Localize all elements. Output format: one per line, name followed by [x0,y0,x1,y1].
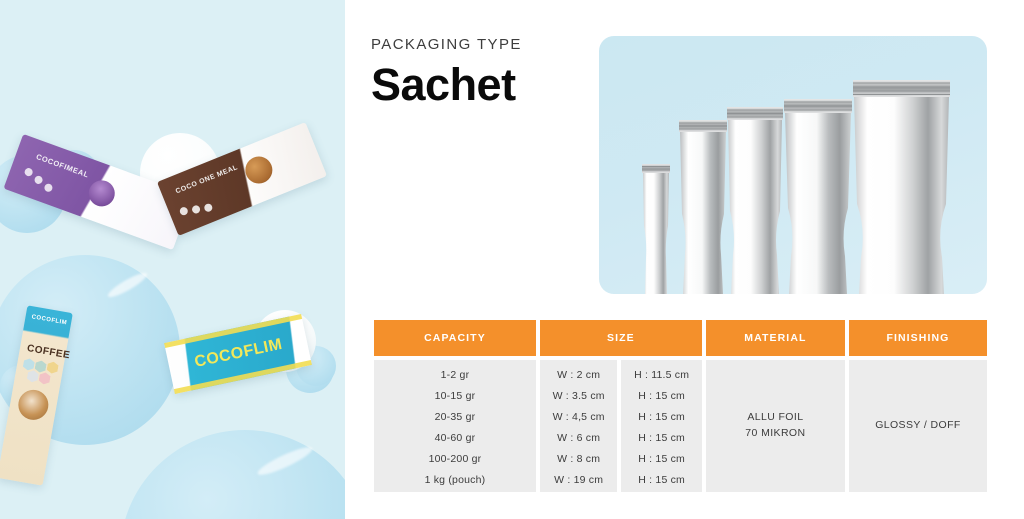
table-column-capacity: 1-2 gr 10-15 gr 20-35 gr 40-60 gr 100-20… [374,360,536,492]
table-column-width: W : 2 cm W : 3.5 cm W : 4,5 cm W : 6 cm … [540,360,617,492]
table-cell-finishing: GLOSSY / DOFF [875,418,961,434]
page-kicker: PACKAGING TYPE [371,36,522,53]
table-cell-capacity: 20-35 gr [374,406,536,427]
table-header-size: SIZE [540,320,702,356]
collage-product-label: COFFEE [26,343,71,361]
table-column-height: H : 11.5 cm H : 15 cm H : 15 cm H : 15 c… [621,360,701,492]
table-cell-height: H : 15 cm [621,385,701,406]
sachet-hero-panel [599,36,987,294]
table-cell-height: H : 15 cm [621,448,701,469]
table-cell-width: W : 3.5 cm [540,385,617,406]
table-cell-capacity: 40-60 gr [374,427,536,448]
collage-product-label: COCOFLIM [193,336,284,372]
table-cell-width: W : 4,5 cm [540,406,617,427]
sachet-size-4 [784,99,852,294]
sachet-size-5 [853,80,950,294]
packaging-spec-page: COCOFIMEAL COCO ONE MEAL COCOFLIM COFFEE [0,0,1024,519]
table-header-material: MATERIAL [706,320,845,356]
sachet-size-2 [679,120,727,294]
product-collage-panel: COCOFIMEAL COCO ONE MEAL COCOFLIM COFFEE [0,0,345,519]
collage-product-label: COCOFIMEAL [35,152,90,179]
table-column-finishing: GLOSSY / DOFF [849,360,987,492]
table-header-finishing: FINISHING [849,320,987,356]
material-line-1: ALLU FOIL [745,410,805,426]
table-cell-width: W : 8 cm [540,448,617,469]
table-column-material: ALLU FOIL 70 MIKRON [706,360,845,492]
page-title: Sachet [371,62,516,107]
sachet-illustration [599,36,987,294]
table-cell-capacity: 100-200 gr [374,448,536,469]
specification-table: CAPACITY SIZE MATERIAL FINISHING 1-2 gr … [374,320,987,492]
table-cell-height: H : 11.5 cm [621,364,701,385]
table-cell-height: H : 15 cm [621,406,701,427]
table-cell-width: W : 19 cm [540,469,617,490]
table-cell-height: H : 15 cm [621,427,701,448]
bubble-large-bottom [120,430,345,519]
material-line-2: 70 MIKRON [745,426,805,442]
table-cell-height: H : 15 cm [621,469,701,490]
table-cell-width: W : 2 cm [540,364,617,385]
table-cell-capacity: 1-2 gr [374,364,536,385]
collage-product-brand: COCOFLIM [31,314,67,326]
table-cell-capacity: 1 kg (pouch) [374,469,536,490]
table-header-capacity: CAPACITY [374,320,536,356]
table-body: 1-2 gr 10-15 gr 20-35 gr 40-60 gr 100-20… [374,360,987,492]
table-header-row: CAPACITY SIZE MATERIAL FINISHING [374,320,987,356]
table-cell-capacity: 10-15 gr [374,385,536,406]
sachet-size-3 [727,107,783,294]
table-cell-width: W : 6 cm [540,427,617,448]
table-cell-material: ALLU FOIL 70 MIKRON [745,410,805,442]
sachet-size-1 [642,164,670,294]
